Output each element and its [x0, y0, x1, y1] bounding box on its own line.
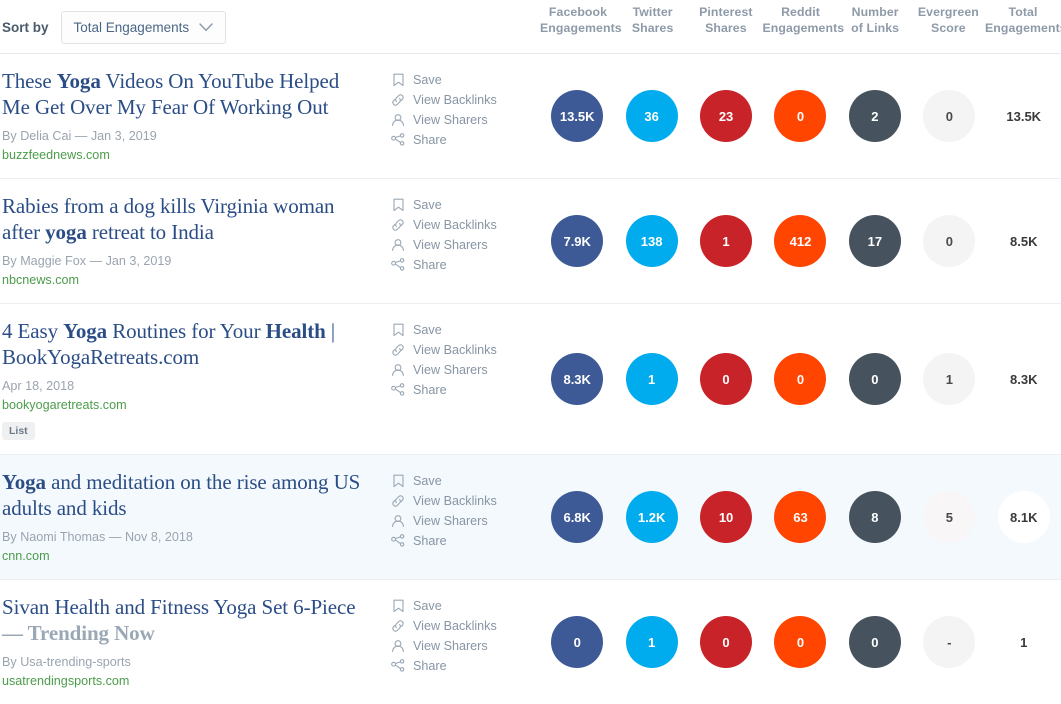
- article-metrics: 13.5K362302013.5K: [540, 54, 1061, 178]
- article-domain[interactable]: bookyogaretreats.com: [2, 396, 372, 414]
- action-label: Save: [413, 70, 442, 90]
- action-save[interactable]: Save: [390, 596, 540, 616]
- metric-value-reddit: 0: [774, 90, 826, 142]
- metric-value-reddit: 63: [774, 491, 826, 543]
- highlighted-keyword: Yoga: [2, 470, 46, 494]
- share-nodes-icon: [390, 383, 406, 398]
- metric-pinterest: 0: [689, 616, 763, 668]
- article-actions: SaveView BacklinksView SharersShare: [390, 304, 540, 454]
- action-label: View Backlinks: [413, 340, 497, 360]
- metric-value-evergreen: 5: [923, 491, 975, 543]
- article-metrics: 6.8K1.2K1063858.1K: [540, 455, 1061, 579]
- column-header-line2: Engagements: [985, 20, 1061, 36]
- metric-evergreen: -: [912, 616, 986, 668]
- metric-value-pinterest: 10: [700, 491, 752, 543]
- metric-total: 8.5K: [987, 215, 1061, 267]
- metric-value-links: 0: [849, 353, 901, 405]
- article-results-list: These Yoga Videos On YouTube Helped Me G…: [0, 54, 1061, 704]
- article-row[interactable]: These Yoga Videos On YouTube Helped Me G…: [0, 54, 1061, 179]
- highlighted-keyword: Yoga: [57, 69, 101, 93]
- article-title[interactable]: Yoga and meditation on the rise among US…: [2, 469, 372, 521]
- column-header-line1: Reddit: [763, 4, 839, 20]
- metric-twitter: 1.2K: [614, 491, 688, 543]
- metric-links: 0: [838, 353, 912, 405]
- chevron-down-icon: [199, 23, 213, 32]
- metric-value-reddit: 412: [774, 215, 826, 267]
- metric-value-facebook: 8.3K: [551, 353, 603, 405]
- action-save[interactable]: Save: [390, 195, 540, 215]
- person-icon: [390, 238, 406, 253]
- metric-pinterest: 23: [689, 90, 763, 142]
- metric-total: 8.3K: [987, 353, 1061, 405]
- link-icon: [390, 619, 406, 634]
- action-label: Share: [413, 380, 447, 400]
- title-text: Routines for Your: [107, 319, 266, 343]
- link-icon: [390, 494, 406, 509]
- column-header-line1: Total: [985, 4, 1061, 20]
- person-icon: [390, 113, 406, 128]
- action-view-sharers[interactable]: View Sharers: [390, 511, 540, 531]
- action-view-backlinks[interactable]: View Backlinks: [390, 90, 540, 110]
- metric-value-facebook: 6.8K: [551, 491, 603, 543]
- article-domain[interactable]: usatrendingsports.com: [2, 672, 372, 690]
- action-label: View Backlinks: [413, 215, 497, 235]
- metric-facebook: 8.3K: [540, 353, 614, 405]
- action-share[interactable]: Share: [390, 380, 540, 400]
- metric-evergreen: 1: [912, 353, 986, 405]
- metric-reddit: 0: [763, 353, 837, 405]
- action-share[interactable]: Share: [390, 656, 540, 676]
- action-label: Share: [413, 531, 447, 551]
- trending-now-label: — Trending Now: [2, 621, 155, 645]
- metric-value-evergreen: 0: [923, 215, 975, 267]
- action-view-backlinks[interactable]: View Backlinks: [390, 340, 540, 360]
- metric-reddit: 63: [763, 491, 837, 543]
- metric-value-links: 8: [849, 491, 901, 543]
- article-info: Rabies from a dog kills Virginia woman a…: [0, 179, 390, 303]
- share-nodes-icon: [390, 258, 406, 273]
- action-label: Save: [413, 596, 442, 616]
- bookmark-icon: [390, 323, 406, 338]
- metric-value-evergreen: 1: [923, 353, 975, 405]
- person-icon: [390, 363, 406, 378]
- metric-links: 8: [838, 491, 912, 543]
- column-header-reddit[interactable]: RedditEngagements: [763, 4, 839, 36]
- column-header-line1: Pinterest: [689, 4, 762, 20]
- article-row[interactable]: Sivan Health and Fitness Yoga Set 6-Piec…: [0, 580, 1061, 704]
- highlighted-keyword: Yoga: [63, 319, 107, 343]
- article-actions: SaveView BacklinksView SharersShare: [390, 179, 540, 303]
- person-icon: [390, 639, 406, 654]
- metric-reddit: 412: [763, 215, 837, 267]
- action-view-sharers[interactable]: View Sharers: [390, 235, 540, 255]
- title-text: Sivan Health and Fitness Yoga Set 6-Piec…: [2, 595, 355, 619]
- action-label: Save: [413, 195, 442, 215]
- highlighted-keyword: Health: [266, 319, 326, 343]
- article-info: 4 Easy Yoga Routines for Your Health | B…: [0, 304, 390, 454]
- metric-value-twitter: 1.2K: [626, 491, 678, 543]
- title-text: These: [2, 69, 57, 93]
- action-label: Share: [413, 130, 447, 150]
- metric-value-twitter: 1: [626, 616, 678, 668]
- share-nodes-icon: [390, 534, 406, 549]
- link-icon: [390, 343, 406, 358]
- article-title[interactable]: Sivan Health and Fitness Yoga Set 6-Piec…: [2, 594, 372, 646]
- article-title[interactable]: These Yoga Videos On YouTube Helped Me G…: [2, 68, 372, 120]
- metric-value-evergreen: 0: [923, 90, 975, 142]
- metric-value-pinterest: 23: [700, 90, 752, 142]
- article-byline: Apr 18, 2018: [2, 377, 372, 395]
- metric-value-total: 8.3K: [998, 353, 1050, 405]
- action-label: View Backlinks: [413, 90, 497, 110]
- action-view-sharers[interactable]: View Sharers: [390, 636, 540, 656]
- action-label: Save: [413, 320, 442, 340]
- metric-value-facebook: 0: [551, 616, 603, 668]
- action-view-backlinks[interactable]: View Backlinks: [390, 616, 540, 636]
- action-save[interactable]: Save: [390, 70, 540, 90]
- bookmark-icon: [390, 599, 406, 614]
- metric-links: 0: [838, 616, 912, 668]
- metric-value-links: 0: [849, 616, 901, 668]
- metric-value-total: 1: [998, 616, 1050, 668]
- column-header-line2: Score: [912, 20, 985, 36]
- article-info: Yoga and meditation on the rise among US…: [0, 455, 390, 579]
- action-share[interactable]: Share: [390, 255, 540, 275]
- metric-value-pinterest: 0: [700, 616, 752, 668]
- action-view-backlinks[interactable]: View Backlinks: [390, 491, 540, 511]
- metric-pinterest: 1: [689, 215, 763, 267]
- metric-pinterest: 0: [689, 353, 763, 405]
- highlighted-keyword: yoga: [45, 220, 87, 244]
- metric-facebook: 0: [540, 616, 614, 668]
- article-metrics: 8.3K100018.3K: [540, 304, 1061, 454]
- column-header-line1: Number: [839, 4, 912, 20]
- bookmark-icon: [390, 474, 406, 489]
- column-header-line1: Evergreen: [912, 4, 985, 20]
- metric-facebook: 6.8K: [540, 491, 614, 543]
- action-label: View Sharers: [413, 360, 488, 380]
- column-header-line2: of Links: [839, 20, 912, 36]
- column-header-line1: Facebook: [540, 4, 616, 20]
- metric-value-total: 8.1K: [998, 491, 1050, 543]
- article-title[interactable]: 4 Easy Yoga Routines for Your Health | B…: [2, 318, 372, 370]
- bookmark-icon: [390, 73, 406, 88]
- article-byline: By Naomi Thomas — Nov 8, 2018: [2, 528, 372, 546]
- content-type-badge: List: [2, 422, 35, 440]
- metric-value-evergreen: -: [923, 616, 975, 668]
- metric-reddit: 0: [763, 90, 837, 142]
- column-header-line2: Shares: [689, 20, 762, 36]
- metric-value-links: 2: [849, 90, 901, 142]
- article-actions: SaveView BacklinksView SharersShare: [390, 54, 540, 178]
- action-label: Share: [413, 656, 447, 676]
- article-title[interactable]: Rabies from a dog kills Virginia woman a…: [2, 193, 372, 245]
- metric-value-total: 8.5K: [998, 215, 1050, 267]
- article-byline: By Delia Cai — Jan 3, 2019: [2, 127, 372, 145]
- sort-control: Sort by Total Engagements: [0, 0, 226, 44]
- title-text: and meditation on the rise among US adul…: [2, 470, 360, 520]
- action-view-sharers[interactable]: View Sharers: [390, 110, 540, 130]
- metric-total: 8.1K: [987, 491, 1061, 543]
- metric-evergreen: 0: [912, 215, 986, 267]
- action-label: View Sharers: [413, 636, 488, 656]
- action-label: View Sharers: [413, 235, 488, 255]
- article-byline: By Maggie Fox — Jan 3, 2019: [2, 252, 372, 270]
- sort-by-label: Sort by: [2, 20, 49, 35]
- metric-evergreen: 0: [912, 90, 986, 142]
- column-header-total[interactable]: TotalEngagements: [985, 4, 1061, 36]
- article-actions: SaveView BacklinksView SharersShare: [390, 455, 540, 579]
- metric-facebook: 7.9K: [540, 215, 614, 267]
- action-view-sharers[interactable]: View Sharers: [390, 360, 540, 380]
- person-icon: [390, 514, 406, 529]
- metric-twitter: 138: [614, 215, 688, 267]
- column-header-line2: Engagements: [540, 20, 616, 36]
- share-nodes-icon: [390, 659, 406, 674]
- article-domain[interactable]: cnn.com: [2, 547, 372, 565]
- share-nodes-icon: [390, 133, 406, 148]
- action-share[interactable]: Share: [390, 130, 540, 150]
- metric-value-reddit: 0: [774, 353, 826, 405]
- action-label: Save: [413, 471, 442, 491]
- article-actions: SaveView BacklinksView SharersShare: [390, 580, 540, 704]
- metric-value-twitter: 36: [626, 90, 678, 142]
- column-header-line2: Shares: [616, 20, 689, 36]
- article-domain[interactable]: nbcnews.com: [2, 271, 372, 289]
- metric-total: 13.5K: [987, 90, 1061, 142]
- sort-by-value: Total Engagements: [74, 20, 190, 35]
- title-text: retreat to India: [87, 220, 214, 244]
- metric-evergreen: 5: [912, 491, 986, 543]
- bookmark-icon: [390, 198, 406, 213]
- column-header-line1: Twitter: [616, 4, 689, 20]
- metric-reddit: 0: [763, 616, 837, 668]
- metric-value-pinterest: 1: [700, 215, 752, 267]
- metric-links: 2: [838, 90, 912, 142]
- metric-value-pinterest: 0: [700, 353, 752, 405]
- metric-facebook: 13.5K: [540, 90, 614, 142]
- article-row[interactable]: 4 Easy Yoga Routines for Your Health | B…: [0, 304, 1061, 455]
- action-view-backlinks[interactable]: View Backlinks: [390, 215, 540, 235]
- metric-twitter: 1: [614, 353, 688, 405]
- column-header-line2: Engagements: [763, 20, 839, 36]
- metric-twitter: 1: [614, 616, 688, 668]
- link-icon: [390, 218, 406, 233]
- column-header-twitter[interactable]: TwitterShares: [616, 4, 689, 36]
- article-row[interactable]: Yoga and meditation on the rise among US…: [0, 455, 1061, 580]
- toolbar: Sort by Total Engagements FacebookEngage…: [0, 0, 1061, 54]
- article-metrics: 7.9K13814121708.5K: [540, 179, 1061, 303]
- article-row[interactable]: Rabies from a dog kills Virginia woman a…: [0, 179, 1061, 304]
- metric-value-facebook: 13.5K: [551, 90, 603, 142]
- action-label: View Sharers: [413, 110, 488, 130]
- action-label: View Sharers: [413, 511, 488, 531]
- metric-links: 17: [838, 215, 912, 267]
- metric-value-total: 13.5K: [998, 90, 1050, 142]
- sort-by-dropdown[interactable]: Total Engagements: [61, 11, 227, 44]
- article-info: Sivan Health and Fitness Yoga Set 6-Piec…: [0, 580, 390, 704]
- action-save[interactable]: Save: [390, 471, 540, 491]
- metric-total: 1: [987, 616, 1061, 668]
- title-text: 4 Easy: [2, 319, 63, 343]
- metric-value-twitter: 138: [626, 215, 678, 267]
- metric-twitter: 36: [614, 90, 688, 142]
- metric-value-reddit: 0: [774, 616, 826, 668]
- metric-value-facebook: 7.9K: [551, 215, 603, 267]
- metric-pinterest: 10: [689, 491, 763, 543]
- article-info: These Yoga Videos On YouTube Helped Me G…: [0, 54, 390, 178]
- article-metrics: 01000-1: [540, 580, 1061, 704]
- column-header-number[interactable]: Numberof Links: [839, 4, 912, 36]
- action-label: Share: [413, 255, 447, 275]
- action-label: View Backlinks: [413, 491, 497, 511]
- metric-column-headers: FacebookEngagementsTwitterSharesPinteres…: [540, 0, 1061, 36]
- metric-value-links: 17: [849, 215, 901, 267]
- action-share[interactable]: Share: [390, 531, 540, 551]
- action-save[interactable]: Save: [390, 320, 540, 340]
- action-label: View Backlinks: [413, 616, 497, 636]
- column-header-evergreen[interactable]: EvergreenScore: [912, 4, 985, 36]
- column-header-facebook[interactable]: FacebookEngagements: [540, 4, 616, 36]
- article-domain[interactable]: buzzfeednews.com: [2, 146, 372, 164]
- metric-value-twitter: 1: [626, 353, 678, 405]
- link-icon: [390, 93, 406, 108]
- column-header-pinterest[interactable]: PinterestShares: [689, 4, 762, 36]
